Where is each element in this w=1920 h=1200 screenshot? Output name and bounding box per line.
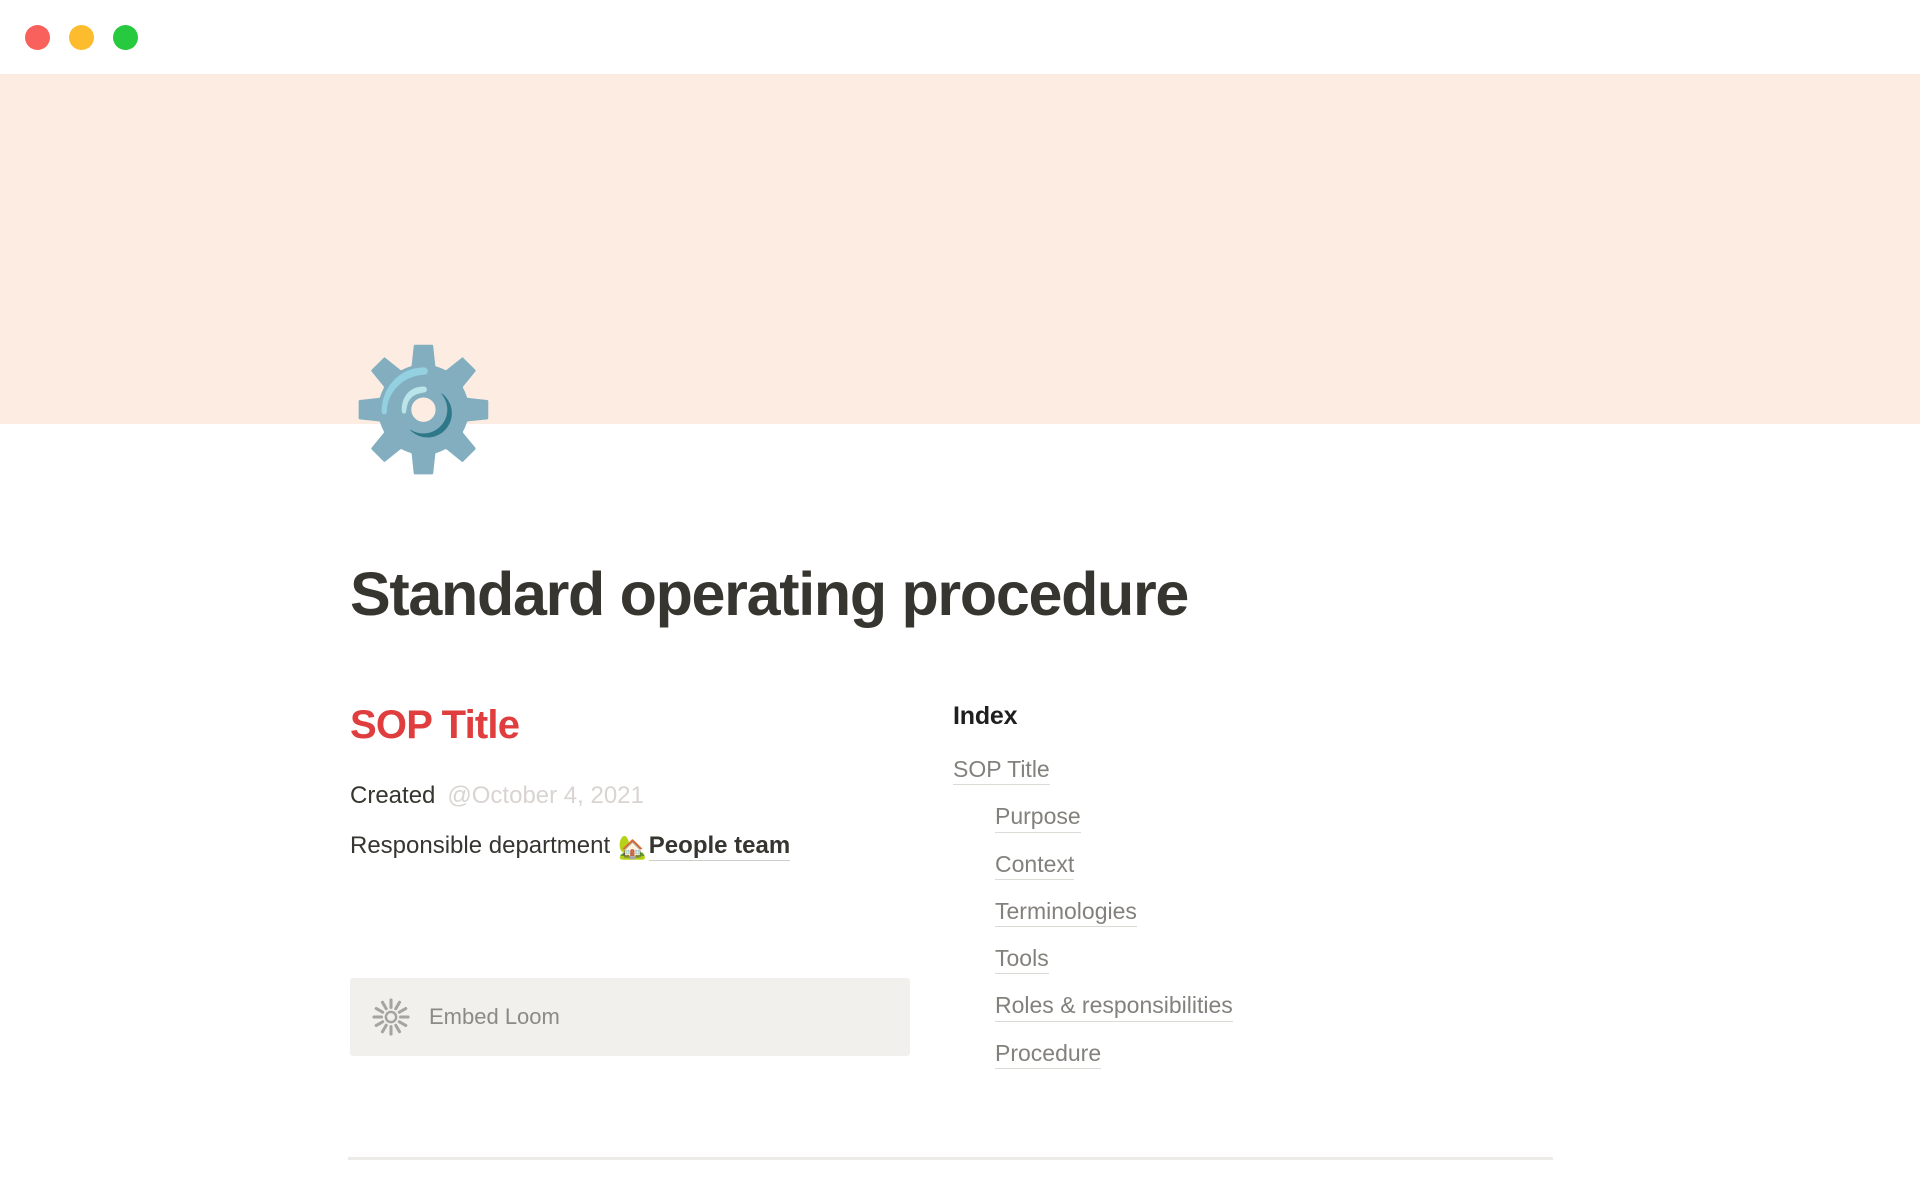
- created-date-value[interactable]: @October 4, 2021: [447, 782, 643, 809]
- content-columns: SOP Title Created@October 4, 2021 Respon…: [350, 702, 1560, 1088]
- created-label: Created: [350, 782, 435, 809]
- page-title: Standard operating procedure: [350, 559, 1188, 629]
- department-label: Responsible department: [350, 832, 610, 859]
- index-item-tools: Tools: [995, 946, 1560, 974]
- minimize-window-button[interactable]: [69, 25, 94, 50]
- index-list: SOP Title Purpose Context Terminologies …: [953, 757, 1560, 1069]
- embed-loom-block[interactable]: Embed Loom: [350, 978, 910, 1056]
- index-link[interactable]: Context: [995, 852, 1074, 880]
- close-window-button[interactable]: [25, 25, 50, 50]
- column-right: Index SOP Title Purpose Context Terminol…: [910, 702, 1560, 1088]
- index-item-sop-title: SOP Title: [953, 757, 1560, 785]
- app-window: ⚙️ Standard operating procedure SOP Titl…: [0, 0, 1920, 1200]
- index-link[interactable]: Tools: [995, 946, 1049, 974]
- index-heading: Index: [953, 702, 1560, 731]
- section-divider: [348, 1157, 1553, 1160]
- created-row: Created@October 4, 2021: [350, 776, 910, 816]
- index-link[interactable]: Terminologies: [995, 899, 1137, 927]
- window-titlebar: [0, 0, 1920, 74]
- maximize-window-button[interactable]: [113, 25, 138, 50]
- index-item-context: Context: [995, 852, 1560, 880]
- index-item-roles-responsibilities: Roles & responsibilities: [995, 993, 1560, 1021]
- index-link[interactable]: Procedure: [995, 1041, 1101, 1069]
- index-item-purpose: Purpose: [995, 804, 1560, 832]
- department-row: Responsible department🏡People team: [350, 826, 910, 866]
- traffic-light-group: [25, 25, 138, 50]
- index-link[interactable]: Roles & responsibilities: [995, 993, 1233, 1021]
- embed-loom-label: Embed Loom: [429, 1004, 560, 1030]
- house-with-garden-emoji-icon: 🏡: [618, 834, 647, 860]
- index-item-terminologies: Terminologies: [995, 899, 1560, 927]
- index-link[interactable]: SOP Title: [953, 757, 1050, 785]
- index-link[interactable]: Purpose: [995, 804, 1081, 832]
- gear-emoji-icon[interactable]: ⚙️: [350, 346, 478, 474]
- column-left: SOP Title Created@October 4, 2021 Respon…: [350, 702, 910, 1088]
- sop-title-heading: SOP Title: [350, 702, 910, 748]
- index-item-procedure: Procedure: [995, 1041, 1560, 1069]
- page-cover-banner[interactable]: [0, 74, 1920, 424]
- department-page-link[interactable]: People team: [649, 832, 790, 861]
- loom-icon: [372, 998, 410, 1036]
